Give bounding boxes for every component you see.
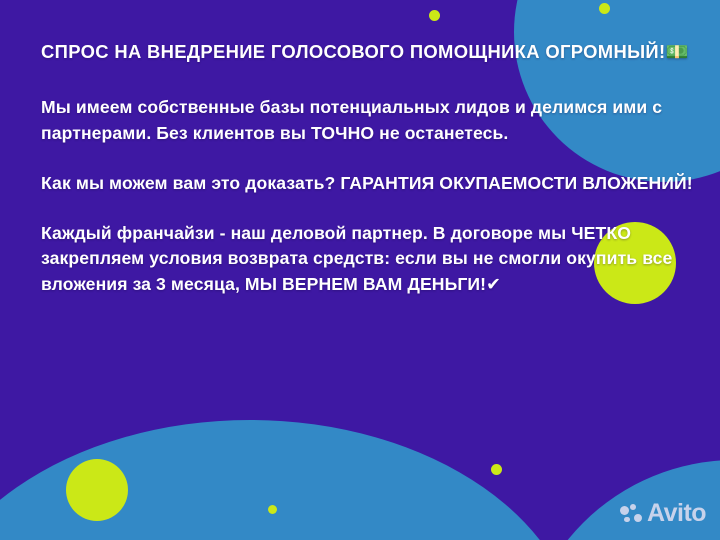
decorative-circle-lime-bottom-left [66, 459, 128, 521]
avito-watermark: Avito [620, 501, 706, 526]
avito-wordmark: Avito [647, 501, 706, 526]
decorative-dot-top-left [429, 10, 440, 21]
paragraph-roi-guarantee: Как мы можем вам это доказать? ГАРАНТИЯ … [41, 171, 706, 197]
slide-heading-text: СПРОС НА ВНЕДРЕНИЕ ГОЛОСОВОГО ПОМОЩНИКА … [41, 41, 665, 62]
decorative-dot-top-right [599, 3, 610, 14]
slide-heading: СПРОС НА ВНЕДРЕНИЕ ГОЛОСОВОГО ПОМОЩНИКА … [41, 38, 706, 66]
paragraph-refund-terms-text: Каждый франчайзи - наш деловой партнер. … [41, 223, 672, 295]
paragraph-lead-databases: Мы имеем собственные базы потенциальных … [41, 95, 706, 147]
money-banknote-icon: 💵 [665, 42, 688, 63]
slide-text-body: СПРОС НА ВНЕДРЕНИЕ ГОЛОСОВОГО ПОМОЩНИКА … [41, 38, 706, 299]
check-mark-icon: ✔ [486, 275, 501, 295]
promo-slide: СПРОС НА ВНЕДРЕНИЕ ГОЛОСОВОГО ПОМОЩНИКА … [0, 0, 720, 540]
paragraph-refund-terms: Каждый франчайзи - наш деловой партнер. … [41, 221, 706, 300]
avito-dots-logo-icon [620, 504, 643, 524]
decorative-circle-blue-bottom-left [0, 420, 580, 540]
decorative-dot-bottom-mid [491, 464, 502, 475]
decorative-dot-bottom-left [268, 505, 277, 514]
